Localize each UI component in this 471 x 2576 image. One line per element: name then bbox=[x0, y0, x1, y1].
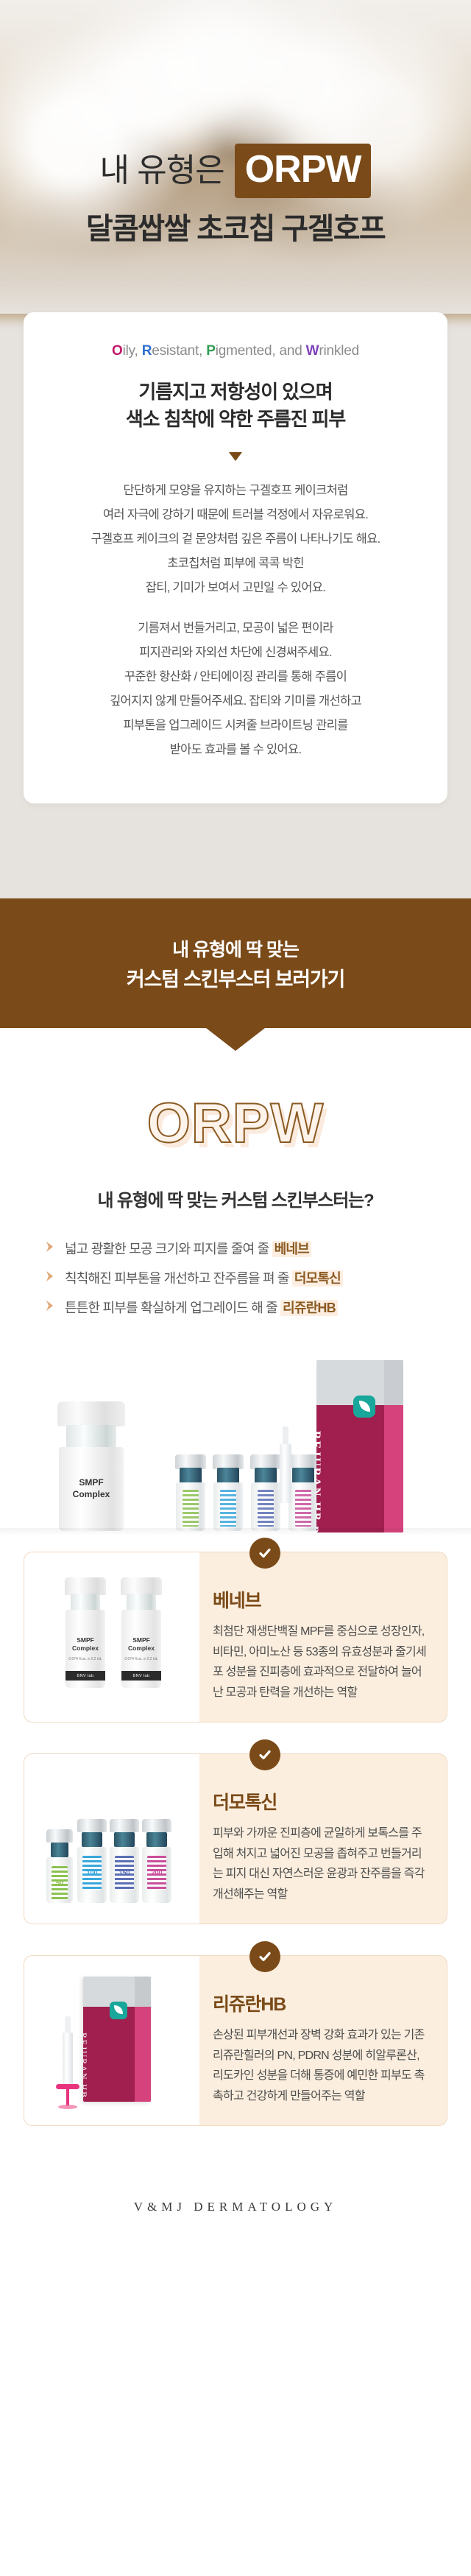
vial-cap bbox=[175, 1454, 206, 1469]
product-hero-photo: SMPF Complex bbox=[0, 1344, 471, 1535]
skin-type-info-card: Oily, Resistant, Pigmented, and Wrinkled… bbox=[24, 312, 447, 803]
legend-r-initial: R bbox=[142, 343, 152, 359]
orpw-legend: Oily, Resistant, Pigmented, and Wrinkled bbox=[46, 343, 425, 359]
desc-p1-l1: 단단하게 모양을 유지하는 구겔호프 케이크처럼 bbox=[46, 479, 425, 503]
bullet-highlight-2: 더모톡신 bbox=[292, 1270, 343, 1287]
vial-cap bbox=[77, 1819, 107, 1832]
toxin-artwork: 50 100 bbox=[24, 1754, 199, 1924]
vial-stopper bbox=[146, 1832, 167, 1847]
vial-brand: BNV lab bbox=[77, 1674, 94, 1678]
benev-vial: SMPF Complex 0.074 fl.oz. e 2.2 mL BNV l… bbox=[63, 1577, 108, 1688]
product-card-rejuran[interactable]: REJURAN HB plus 리쥬란HB 손상된 피부개선과 장벽 강화 효과… bbox=[24, 1955, 447, 2126]
vial-body bbox=[251, 1482, 280, 1531]
paragraph-gap bbox=[46, 600, 425, 616]
legend-r-rest: esistant, bbox=[152, 343, 206, 359]
leaf-logo-icon bbox=[353, 1396, 375, 1418]
triangle-down-icon bbox=[229, 452, 242, 461]
toxin-vial-group bbox=[174, 1454, 320, 1531]
toxin-vial bbox=[211, 1454, 245, 1531]
product-text-rejuran: 리쥬란HB 손상된 피부개선과 장벽 강화 효과가 있는 기존 리쥬란힐러의 P… bbox=[199, 1956, 447, 2125]
vial-label-sub: 0.074 fl.oz. e 2.2 mL bbox=[124, 1657, 157, 1661]
legend-p-initial: P bbox=[206, 343, 215, 359]
toxin-vial bbox=[249, 1454, 283, 1531]
syringe-icon bbox=[280, 1426, 291, 1503]
list-item: 칙칙해진 피부톤을 개선하고 잔주름을 펴 줄 더모톡신 bbox=[44, 1263, 427, 1292]
vial-label-line1: SMPF bbox=[132, 1636, 150, 1644]
vial-brand: BNV lab bbox=[133, 1674, 150, 1678]
vial-cap bbox=[57, 1401, 125, 1426]
chevron-right-icon bbox=[44, 1299, 56, 1316]
list-item: 튼튼한 피부를 확실하게 업그레이드 해 줄 리쥬란HB bbox=[44, 1292, 427, 1322]
syringe-needle bbox=[66, 2088, 69, 2106]
hero-title-line1: 내 유형은 ORPW bbox=[0, 144, 471, 197]
product-card-list: SMPF Complex 0.074 fl.oz. e 2.2 mL BNV l… bbox=[0, 1535, 471, 2156]
bullet-text: 칙칙해진 피부톤을 개선하고 잔주름을 펴 줄 더모톡신 bbox=[65, 1268, 343, 1287]
product-description: 피부와 가까운 진피층에 균일하게 보톡스를 주입해 처지고 넓어진 모공을 좁… bbox=[213, 1823, 428, 1904]
vial-body bbox=[288, 1482, 318, 1531]
vial-body: 50 bbox=[46, 1857, 73, 1903]
desc-p1-l3: 구겔호프 케이크의 겉 문양처럼 깊은 주름이 나타나기도 해요. bbox=[46, 527, 425, 552]
leaf-logo-icon bbox=[110, 2002, 127, 2019]
desc-p2-l1: 기름져서 번들거리고, 모공이 넓은 편이라 bbox=[46, 616, 425, 641]
bullet-highlight-3: 리쥬란HB bbox=[280, 1300, 338, 1316]
rejuran-product-box: REJURAN HB plus bbox=[316, 1360, 403, 1532]
toxin-vial: 200 bbox=[142, 1819, 171, 1903]
legend-o-rest: ily, bbox=[123, 343, 142, 359]
skin-type-heading: 기름지고 저항성이 있으며 색소 침착에 약한 주름진 피부 bbox=[46, 379, 425, 433]
hero-title-prefix: 내 유형은 bbox=[100, 155, 224, 187]
orpw-outline-title: ORPW ORPW bbox=[147, 1096, 324, 1152]
box-brand-text: REJURAN HB plus bbox=[316, 1431, 322, 1512]
vial-label-line1: SMPF bbox=[77, 1636, 94, 1644]
toxin-vial bbox=[174, 1454, 208, 1531]
desc-p2-l2: 피지관리와 자외선 차단에 신경써주세요. bbox=[46, 641, 425, 665]
cta-notch-triangle-icon bbox=[206, 1028, 265, 1051]
syringe-plunger bbox=[65, 2016, 71, 2034]
vial-cap bbox=[121, 1577, 162, 1595]
cta-banner[interactable]: 내 유형에 딱 맞는 커스텀 스킨부스터 보러가기 bbox=[0, 898, 471, 1028]
vial-cap bbox=[142, 1819, 171, 1832]
legend-o-initial: O bbox=[112, 343, 123, 359]
vial-cap bbox=[65, 1577, 106, 1595]
vial-label-line2: Complex bbox=[72, 1644, 99, 1653]
vial-body bbox=[176, 1482, 205, 1531]
vial-cap bbox=[213, 1454, 244, 1469]
vial-label-sub: 0.074 fl.oz. e 2.2 mL bbox=[68, 1657, 102, 1661]
vial-stopper bbox=[114, 1832, 135, 1847]
vial-cap bbox=[46, 1829, 73, 1843]
rejuran-composition: REJURAN HB plus bbox=[58, 1977, 151, 2102]
desc-p1-l4: 초코칩처럼 피부에 콕콕 박힌 bbox=[46, 552, 425, 576]
rejuran-artwork: REJURAN HB plus bbox=[24, 1956, 199, 2125]
vial-label-line2: Complex bbox=[128, 1644, 155, 1653]
vial-body bbox=[213, 1482, 243, 1531]
vial-stopper bbox=[51, 1843, 68, 1857]
product-title: 더모톡신 bbox=[213, 1788, 428, 1815]
skin-type-heading-line2: 색소 침착에 약한 주름진 피부 bbox=[46, 406, 425, 433]
bullet-text-1: 넓고 광활한 모공 크기와 피지를 줄여 줄 bbox=[65, 1242, 272, 1256]
smpf-complex-vial: SMPF Complex bbox=[53, 1401, 130, 1531]
recommendation-bullet-list: 넓고 광활한 모공 크기와 피지를 줄여 줄 베네브 칙칙해진 피부톤을 개선하… bbox=[44, 1234, 427, 1322]
product-text-benev: 베네브 최첨단 재생단백질 MPF를 중심으로 성장인자, 비타민, 아미노산 … bbox=[199, 1552, 447, 1722]
photo-shadow bbox=[0, 1528, 471, 1535]
vial-body: SMPF Complex bbox=[59, 1447, 124, 1531]
product-description: 최첨단 재생단백질 MPF를 중심으로 성장인자, 비타민, 아미노산 등 53… bbox=[213, 1622, 428, 1703]
bullet-text-2: 칙칙해진 피부톤을 개선하고 잔주름을 펴 줄 bbox=[65, 1271, 292, 1286]
vial-neck bbox=[127, 1594, 156, 1611]
orpw-recommendation-section: ORPW ORPW 내 유형에 딱 맞는 커스텀 스킨부스터는? 넓고 광활한 … bbox=[0, 1028, 471, 1535]
product-image-dermotoxin: 50 100 bbox=[24, 1754, 199, 1924]
toxin-vial: 50 bbox=[46, 1829, 73, 1903]
hero-section: 내 유형은 ORPW 달콤쌉쌀 초코칩 구겔호프 Oily, Resistant… bbox=[0, 0, 471, 898]
hero-subtitle: 달콤쌉쌀 초코칩 구겔호프 bbox=[0, 205, 471, 247]
vial-cap bbox=[288, 1454, 319, 1469]
vial-unit-value: 200 bbox=[142, 1869, 171, 1876]
vial-neck bbox=[66, 1425, 116, 1450]
desc-p1-l5: 잡티, 기미가 보여서 고민일 수 있어요. bbox=[46, 576, 425, 600]
benev-artwork: SMPF Complex 0.074 fl.oz. e 2.2 mL BNV l… bbox=[24, 1552, 199, 1722]
desc-p2-l4: 깊어지지 않게 만들어주세요. 잡티와 기미를 개선하고 bbox=[46, 689, 425, 714]
vial-label-line2: Complex bbox=[73, 1489, 110, 1501]
recommendation-question: 내 유형에 딱 맞는 커스텀 스킨부스터는? bbox=[0, 1186, 471, 1211]
landing-page: 내 유형은 ORPW 달콤쌉쌀 초코칩 구겔호프 Oily, Resistant… bbox=[0, 0, 471, 2244]
product-text-dermotoxin: 더모톡신 피부와 가까운 진피층에 균일하게 보톡스를 주입해 처지고 넓어진 … bbox=[199, 1754, 447, 1924]
vial-body: 200 bbox=[142, 1847, 171, 1903]
legend-p-rest: igmented, and bbox=[216, 343, 306, 359]
skin-type-description: 단단하게 모양을 유지하는 구겔호프 케이크처럼 여러 자극에 강하기 때문에 … bbox=[46, 479, 425, 762]
bullet-highlight-1: 베네브 bbox=[272, 1241, 311, 1257]
vial-neck bbox=[71, 1594, 100, 1611]
vial-body: 100 bbox=[77, 1847, 107, 1903]
vial-footer-band: BNV lab bbox=[121, 1671, 161, 1681]
vial-label-line1: SMPF bbox=[79, 1477, 103, 1489]
clinic-brand-name: V&MJ DERMATOLOGY bbox=[0, 2200, 471, 2214]
chevron-right-icon bbox=[44, 1270, 56, 1287]
benev-vial: SMPF Complex 0.074 fl.oz. e 2.2 mL BNV l… bbox=[118, 1577, 164, 1688]
legend-w-rest: rinkled bbox=[319, 343, 359, 359]
bullet-text: 튼튼한 피부를 확실하게 업그레이드 해 줄 리쥬란HB bbox=[65, 1298, 338, 1317]
product-card-benev[interactable]: SMPF Complex 0.074 fl.oz. e 2.2 mL BNV l… bbox=[24, 1552, 447, 1722]
vial-cap bbox=[250, 1454, 281, 1469]
toxin-vial-row: 50 100 bbox=[46, 1819, 171, 1903]
desc-p2-l3: 꾸준한 항산화 / 안티에이징 관리를 통해 주름이 bbox=[46, 665, 425, 689]
vial-label-stripe bbox=[183, 1490, 199, 1527]
desc-p1-l2: 여러 자극에 강하기 때문에 트러블 걱정에서 자유로워요. bbox=[46, 503, 425, 527]
vial-cap bbox=[110, 1819, 139, 1832]
orpw-outline-text: ORPW bbox=[147, 1092, 324, 1155]
skin-type-heading-line1: 기름지고 저항성이 있으며 bbox=[46, 379, 425, 406]
syringe-icon bbox=[63, 2016, 73, 2102]
cta-line2: 커스텀 스킨부스터 보러가기 bbox=[0, 965, 471, 995]
desc-p2-l5: 피부톤을 업그레이드 시켜줄 브라이트닝 관리를 bbox=[46, 714, 425, 738]
toxin-vial: 150 bbox=[110, 1819, 139, 1903]
product-image-rejuran: REJURAN HB plus bbox=[24, 1956, 199, 2125]
hero-type-badge: ORPW bbox=[235, 144, 372, 198]
rejuran-product-box: REJURAN HB plus bbox=[83, 1977, 151, 2102]
vial-label-stripe bbox=[295, 1490, 311, 1527]
syringe-barrel bbox=[280, 1444, 291, 1503]
box-brand-text: REJURAN HB plus bbox=[83, 2033, 89, 2102]
legend-w-initial: W bbox=[306, 343, 319, 359]
product-image-benev: SMPF Complex 0.074 fl.oz. e 2.2 mL BNV l… bbox=[24, 1552, 199, 1722]
vial-body: 150 bbox=[110, 1847, 139, 1903]
check-circle-icon bbox=[249, 1739, 280, 1770]
syringe-plunger bbox=[283, 1426, 288, 1446]
check-circle-icon bbox=[249, 1538, 280, 1569]
vial-unit-value: 50 bbox=[46, 1879, 73, 1887]
syringe-barrel bbox=[63, 2033, 73, 2086]
product-title: 베네브 bbox=[213, 1586, 428, 1613]
vial-unit-value: 150 bbox=[110, 1869, 139, 1876]
list-item: 넓고 광활한 모공 크기와 피지를 줄여 줄 베네브 bbox=[44, 1234, 427, 1263]
box-side-panel bbox=[135, 1977, 151, 2102]
desc-p2-l6: 받아도 효과를 볼 수 있어요. bbox=[46, 738, 425, 762]
check-circle-icon bbox=[249, 1941, 280, 1972]
vial-label-stripe bbox=[220, 1490, 236, 1527]
vial-unit-value: 100 bbox=[77, 1869, 107, 1876]
toxin-vial: 100 bbox=[77, 1819, 107, 1903]
syringe-base bbox=[58, 2105, 77, 2109]
vial-label-stripe bbox=[258, 1490, 274, 1527]
chevron-right-icon bbox=[44, 1240, 56, 1257]
vial-footer-band: BNV lab bbox=[65, 1671, 105, 1681]
bullet-text-3: 튼튼한 피부를 확실하게 업그레이드 해 줄 bbox=[65, 1301, 280, 1315]
product-card-dermotoxin[interactable]: 50 100 bbox=[24, 1753, 447, 1924]
page-footer: V&MJ DERMATOLOGY bbox=[0, 2156, 471, 2244]
product-description: 손상된 피부개선과 장벽 강화 효과가 있는 기존 리쥬란힐러의 PN, PDR… bbox=[213, 2025, 428, 2106]
cta-line1: 내 유형에 딱 맞는 bbox=[0, 937, 471, 965]
bullet-text: 넓고 광활한 모공 크기와 피지를 줄여 줄 베네브 bbox=[65, 1239, 311, 1258]
hero-title-block: 내 유형은 ORPW 달콤쌉쌀 초코칩 구겔호프 bbox=[0, 144, 471, 247]
product-title: 리쥬란HB bbox=[213, 1990, 428, 2016]
box-side-panel bbox=[384, 1360, 403, 1532]
benev-vial-pair: SMPF Complex 0.074 fl.oz. e 2.2 mL BNV l… bbox=[63, 1577, 164, 1688]
vial-stopper bbox=[82, 1832, 102, 1847]
